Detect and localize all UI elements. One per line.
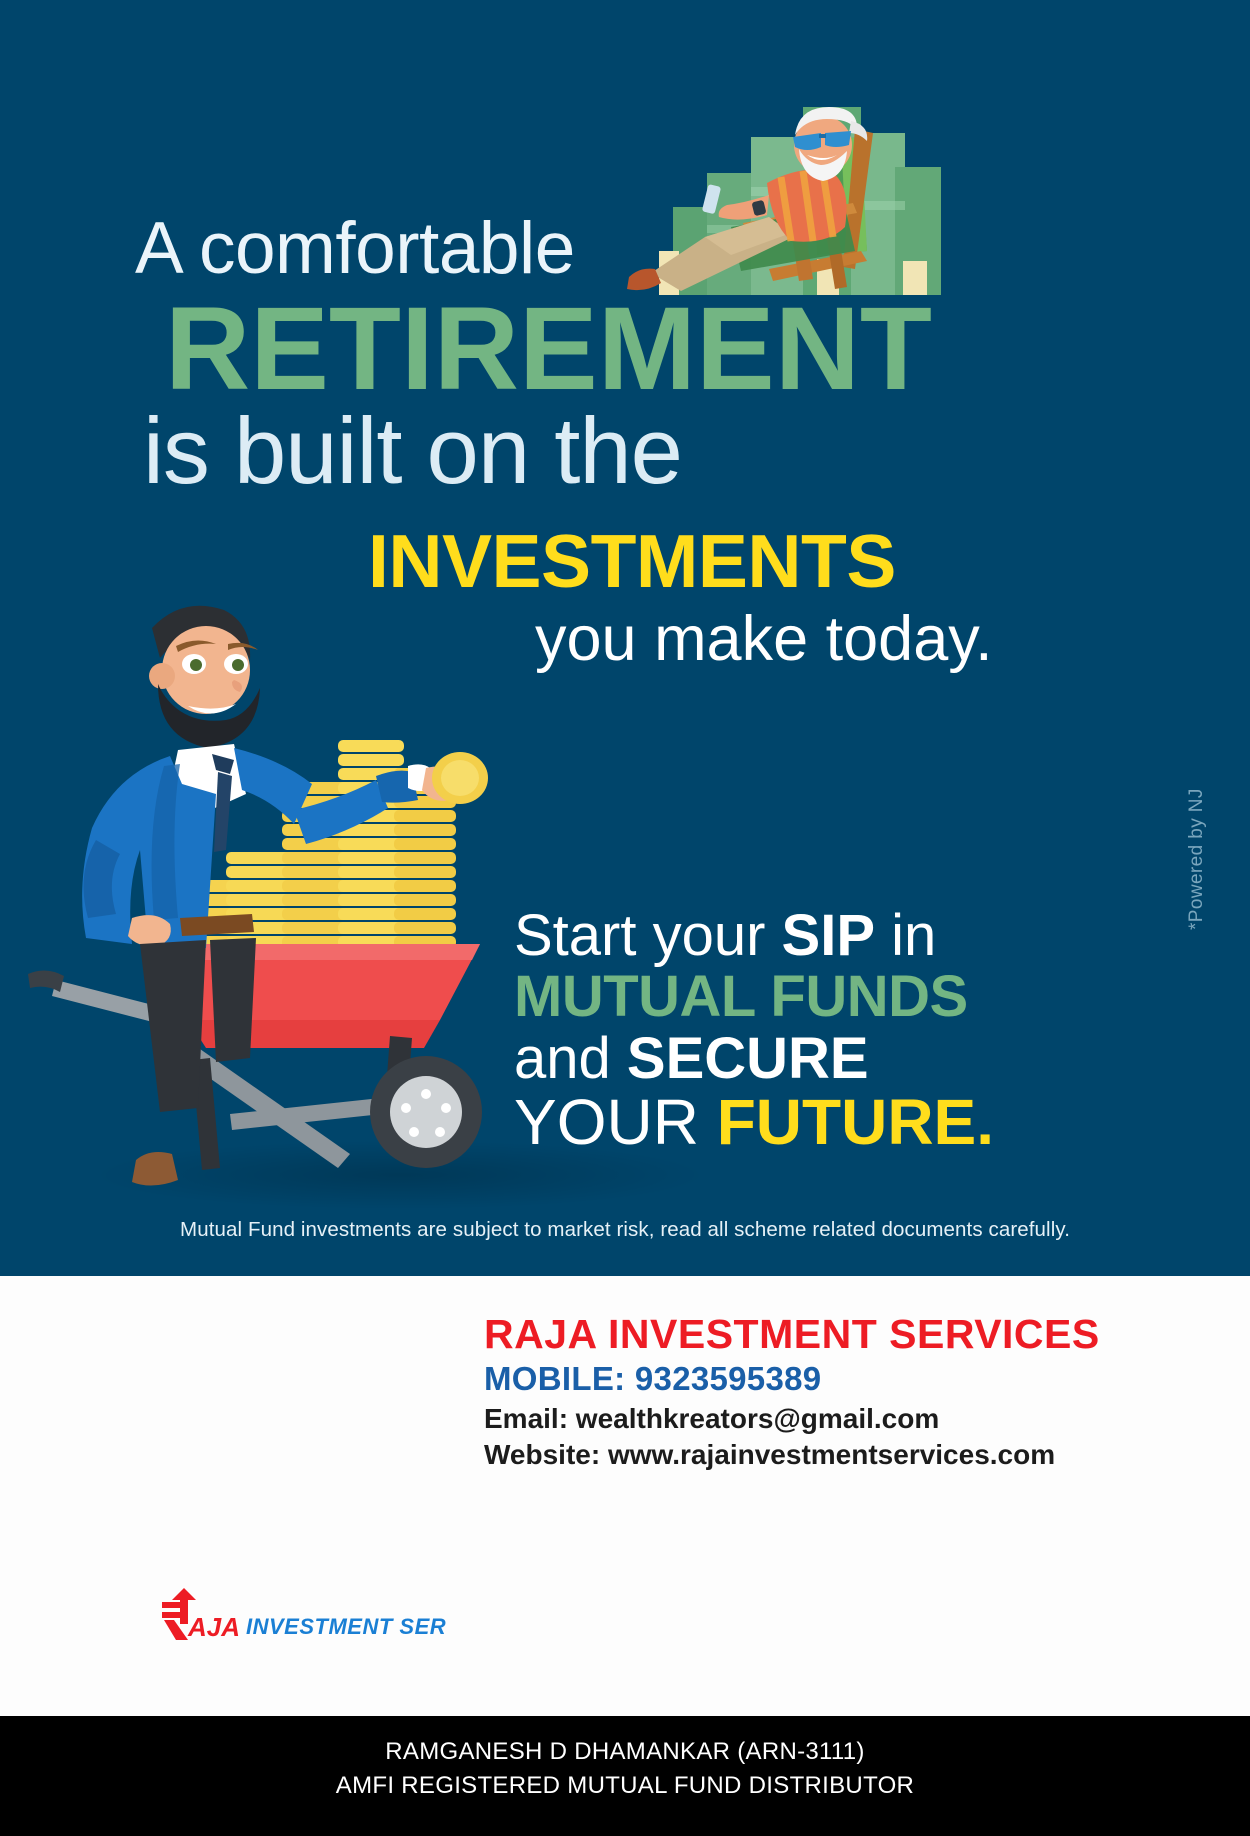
footer-line-2: AMFI REGISTERED MUTUAL FUND DISTRIBUTOR — [0, 1772, 1250, 1800]
logo-text-blue: INVESTMENT SERVICES — [246, 1614, 448, 1639]
disclaimer-text: Mutual Fund investments are subject to m… — [0, 1218, 1250, 1242]
mobile-number[interactable]: MOBILE: 9323595389 — [484, 1358, 1100, 1401]
contact-details: RAJA INVESTMENT SERVICES MOBILE: 9323595… — [484, 1312, 1100, 1472]
wheelbarrow-icon — [28, 944, 482, 1186]
sip-line-2: MUTUAL FUNDS — [514, 966, 1054, 1027]
sip-line-1-plain-a: Start your — [514, 903, 782, 968]
retirement-sip-poster: A comfortable RETIREMENT is built on the… — [0, 0, 1250, 1836]
sip-line-1: Start your SIP in — [514, 905, 1054, 966]
sip-callout: Start your SIP in MUTUAL FUNDS and SECUR… — [514, 905, 1054, 1157]
hero-panel: A comfortable RETIREMENT is built on the… — [0, 0, 1250, 1276]
email-address[interactable]: Email: wealthkreators@gmail.com — [484, 1401, 1100, 1437]
headline-line-2: RETIREMENT — [165, 290, 932, 408]
sip-line-1-bold: SIP — [782, 903, 876, 968]
sip-line-3-plain: and — [514, 1026, 627, 1091]
sip-line-4-highlight: FUTURE. — [717, 1086, 994, 1158]
businessman-wheelbarrow-illustration — [20, 588, 540, 1208]
sip-line-4: YOUR FUTURE. — [514, 1089, 1054, 1157]
company-name: RAJA INVESTMENT SERVICES — [484, 1312, 1100, 1358]
sip-line-3: and SECURE — [514, 1028, 1054, 1089]
footer-line-1: RAMGANESH D DHAMANKAR (ARN-3111) — [0, 1738, 1250, 1766]
logo-text-red: AJA — [187, 1612, 240, 1642]
headline-line-5: you make today. — [535, 608, 993, 671]
headline-line-1: A comfortable — [135, 212, 575, 285]
raja-investment-services-logo: AJA INVESTMENT SERVICES — [158, 1588, 448, 1644]
sip-line-3-bold: SECURE — [627, 1026, 869, 1091]
powered-by-label: *Powered by NJ — [1186, 788, 1208, 930]
sip-line-1-plain-b: in — [875, 903, 936, 968]
sip-line-4-plain: YOUR — [514, 1086, 717, 1158]
footer-bar: RAMGANESH D DHAMANKAR (ARN-3111) AMFI RE… — [0, 1716, 1250, 1836]
website-url[interactable]: Website: www.rajainvestmentservices.com — [484, 1437, 1100, 1473]
retiree-illustration — [555, 55, 975, 295]
headline-line-3: is built on the — [143, 404, 682, 498]
